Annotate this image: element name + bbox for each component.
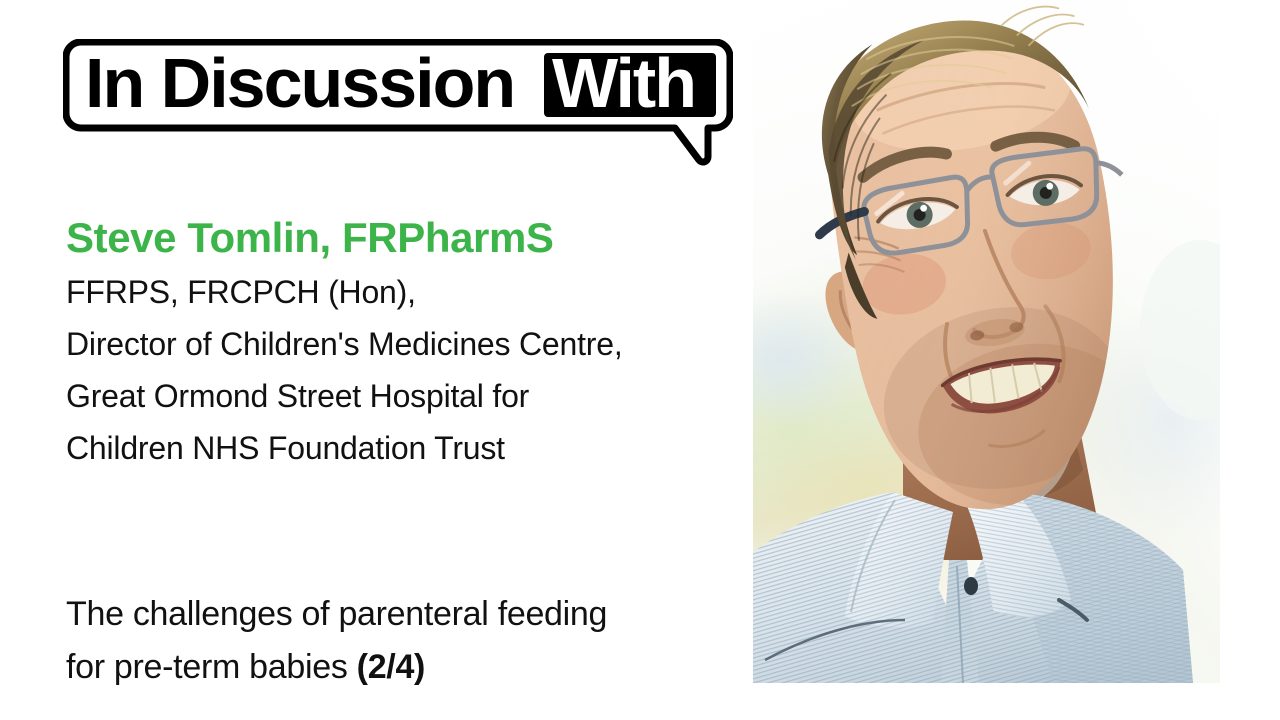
speaker-name: Steve Tomlin, FRPharmS — [66, 212, 766, 264]
slide-root: In Discussion With Steve Tomlin, FRPharm… — [0, 0, 1280, 720]
portrait-photo — [753, 0, 1220, 683]
shirt-button — [964, 577, 978, 595]
talk-title-line-2: for pre-term babies (2/4) — [66, 641, 776, 694]
talk-title: The challenges of parenteral feeding for… — [66, 588, 776, 694]
speaker-credential-line: Children NHS Foundation Trust — [66, 422, 766, 474]
logo-text-secondary: With — [552, 44, 695, 122]
speaker-info: Steve Tomlin, FRPharmS FFRPS, FRCPCH (Ho… — [66, 212, 766, 474]
speaker-credential-line: Great Ormond Street Hospital for — [66, 370, 766, 422]
speaker-credential-line: Director of Children's Medicines Centre, — [66, 318, 766, 370]
logo-text-primary: In Discussion — [85, 44, 514, 122]
photo-content — [753, 0, 1220, 683]
talk-title-line-2-text: for pre-term babies — [66, 648, 357, 686]
brand-logo: In Discussion With — [63, 39, 733, 167]
talk-title-line-1: The challenges of parenteral feeding — [66, 588, 776, 641]
talk-part-label: (2/4) — [357, 648, 425, 686]
speaker-credential-line: FFRPS, FRCPCH (Hon), — [66, 266, 766, 318]
